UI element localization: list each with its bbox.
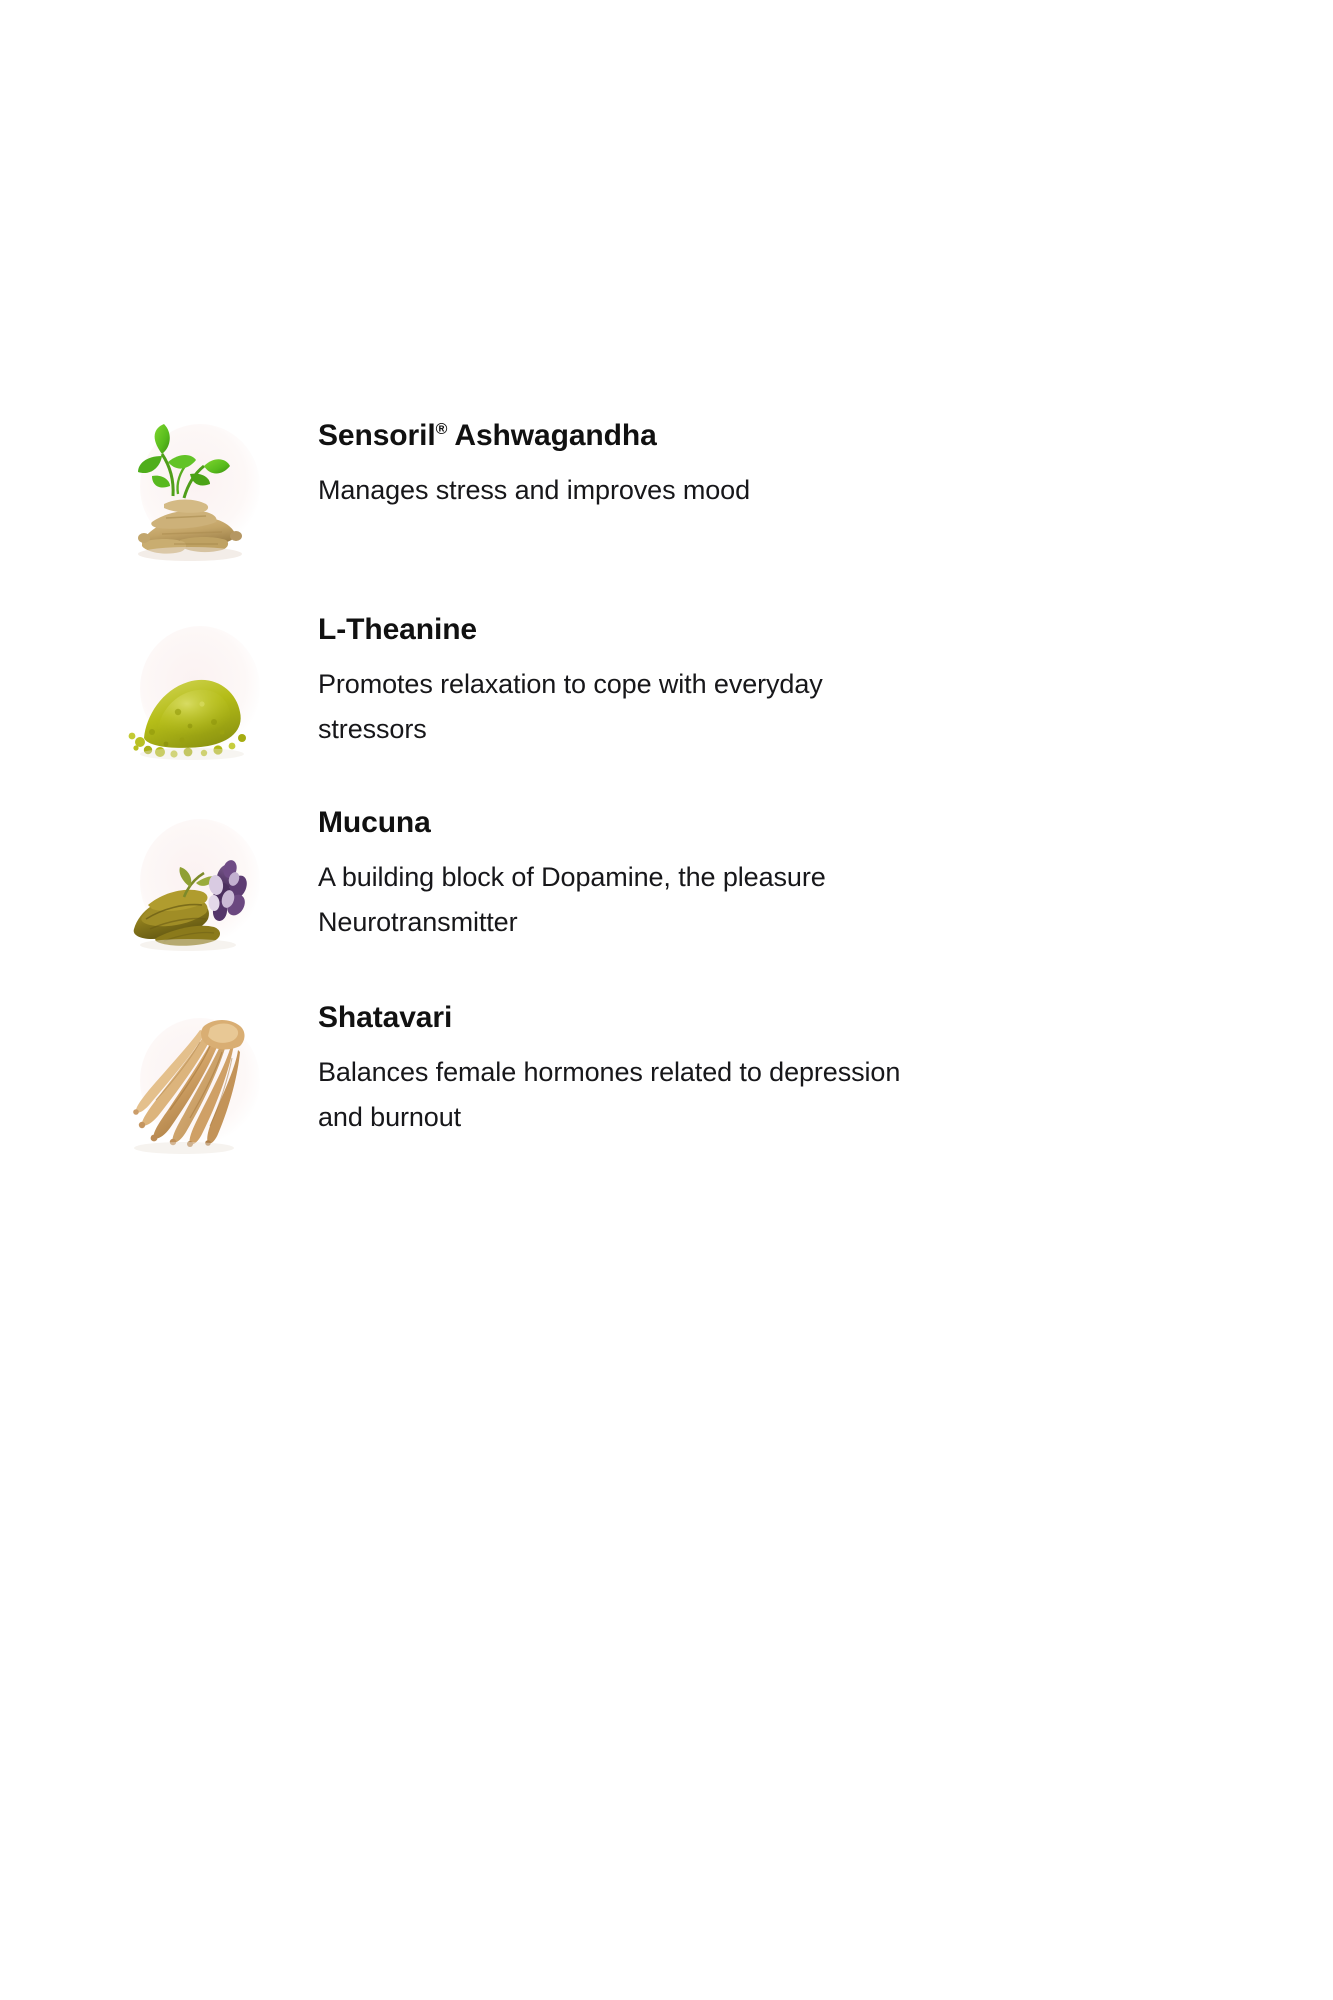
ingredient-title-main: Sensoril [318,419,436,452]
ingredient-description: A building block of Dopamine, the pleasu… [318,855,918,945]
mucuna-thumbnail [118,813,288,963]
ingredient-row: Shatavari Balances female hormones relat… [0,1000,1333,1190]
ingredient-description: Manages stress and improves mood [318,468,918,513]
ingredient-description: Promotes relaxation to cope with everyda… [318,662,918,752]
ingredient-row: L-Theanine Promotes relaxation to cope w… [0,612,1333,802]
ingredient-title: L-Theanine [318,612,938,648]
ingredient-row: Mucuna A building block of Dopamine, the… [0,805,1333,995]
ingredient-row: Sensoril® Ashwagandha Manages stress and… [0,418,1333,608]
registered-trademark-icon: ® [436,421,448,438]
ltheanine-thumbnail [118,620,288,770]
ingredient-text: Shatavari Balances female hormones relat… [318,1000,938,1140]
ingredient-text: L-Theanine Promotes relaxation to cope w… [318,612,938,752]
ingredient-title-main: Shatavari [318,1001,452,1034]
ashwagandha-root-icon [118,418,288,568]
ingredient-text: Sensoril® Ashwagandha Manages stress and… [318,418,938,513]
matcha-powder-icon [118,620,288,770]
ingredient-title-suffix: Ashwagandha [447,419,656,452]
shatavari-root-icon [118,1012,288,1162]
ingredient-description: Balances female hormones related to depr… [318,1050,918,1140]
ingredient-title: Shatavari [318,1000,938,1036]
ingredient-title: Mucuna [318,805,938,841]
shatavari-thumbnail [118,1012,288,1162]
ashwagandha-thumbnail [118,418,288,568]
ingredient-title-main: L-Theanine [318,613,477,646]
ingredient-text: Mucuna A building block of Dopamine, the… [318,805,938,945]
mucuna-pod-icon [118,813,288,963]
ingredients-page: Sensoril® Ashwagandha Manages stress and… [0,0,1333,2000]
ingredient-title: Sensoril® Ashwagandha [318,418,938,454]
ingredient-title-main: Mucuna [318,806,431,839]
